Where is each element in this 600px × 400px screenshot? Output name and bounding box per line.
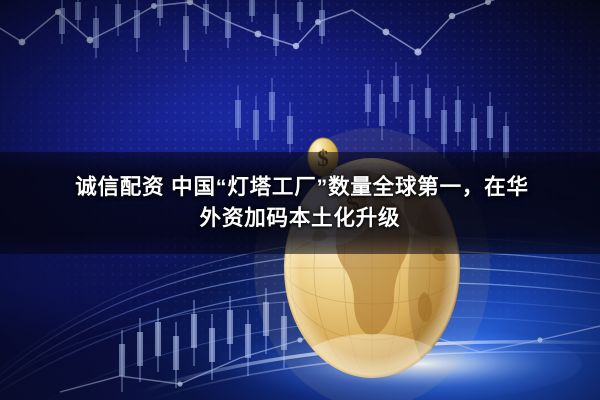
headline-line-2: 外资加码本土化升级 [200, 207, 401, 230]
banner-image: $ $ 诚信配资 中国“灯塔工厂”数量全球第一，在华 外资加码本土化升级 [0, 0, 600, 400]
headline: 诚信配资 中国“灯塔工厂”数量全球第一，在华 外资加码本土化升级 [0, 152, 600, 254]
headline-line-1: 诚信配资 中国“灯塔工厂”数量全球第一，在华 [71, 176, 529, 199]
